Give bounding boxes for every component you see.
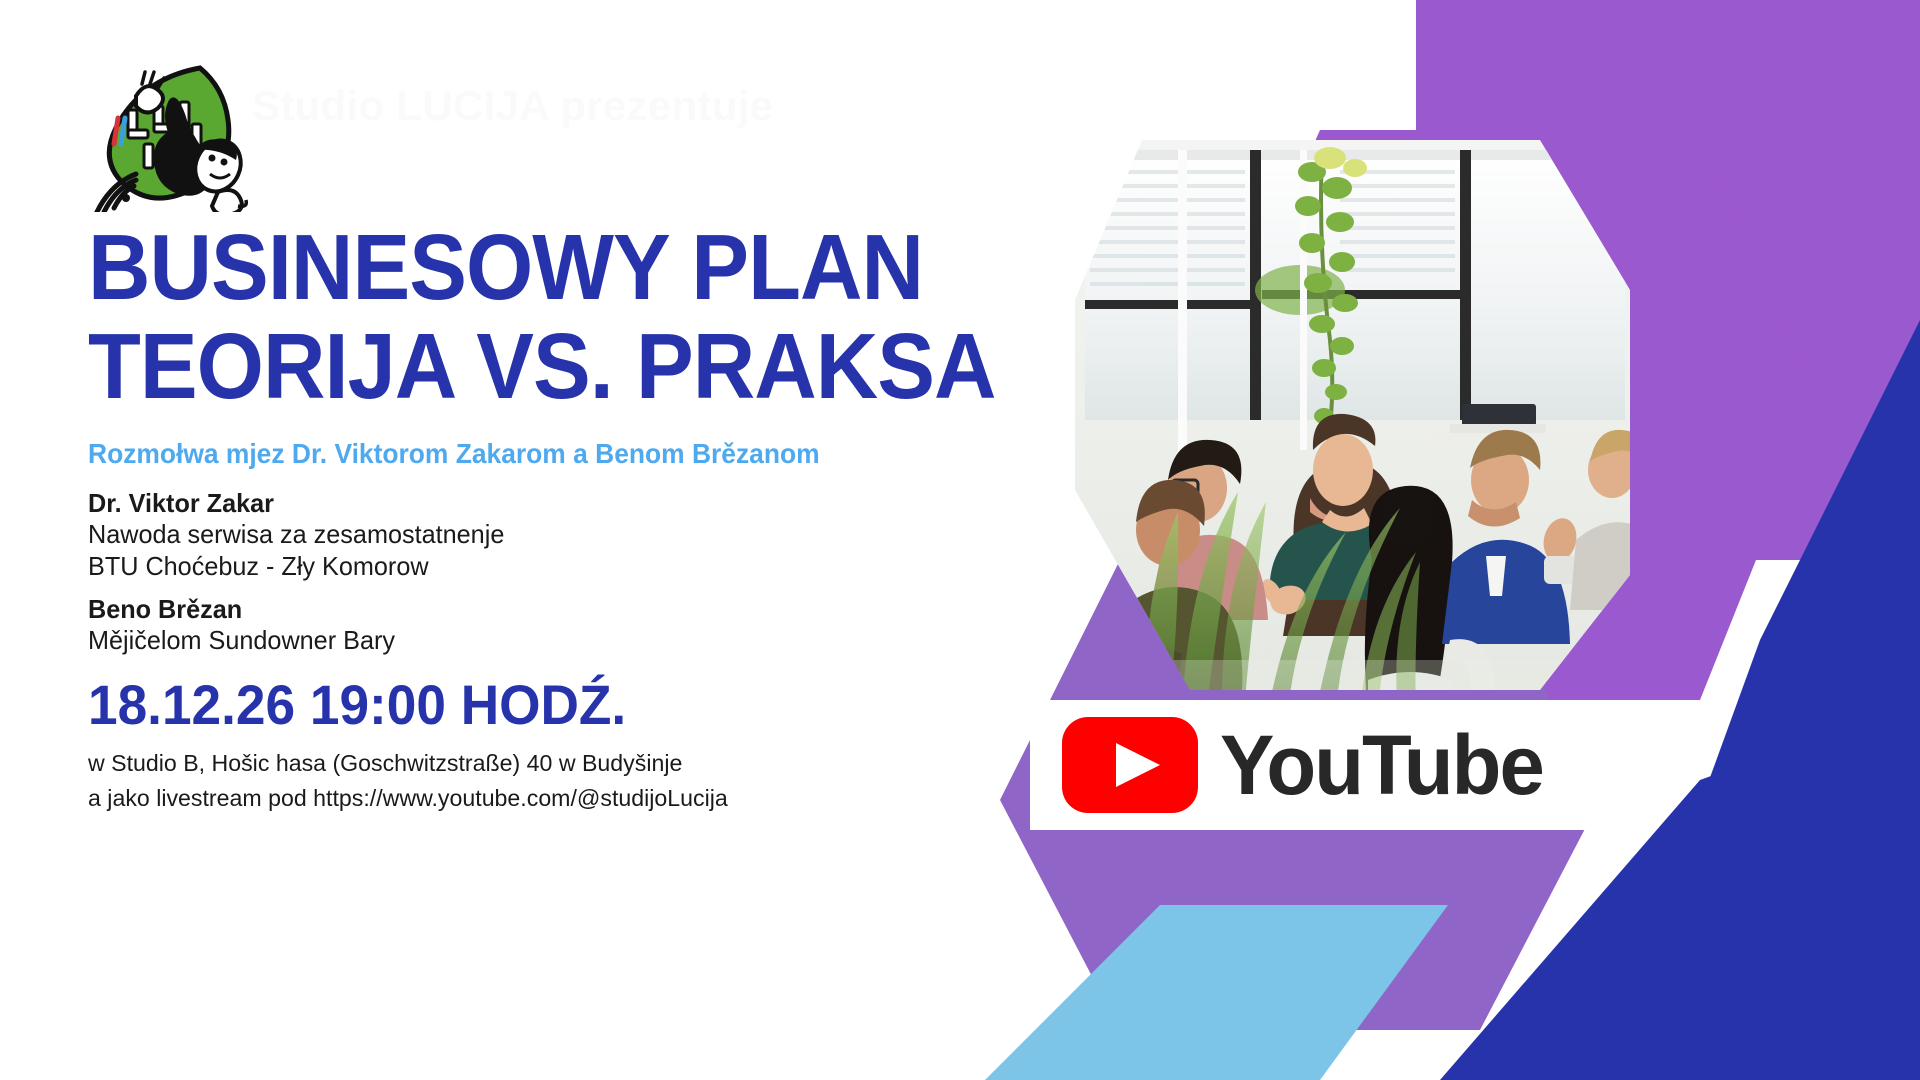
livestream-line: a jako livestream pod https://www.youtub…	[88, 782, 975, 815]
youtube-wordmark: YouTube	[1220, 723, 1543, 807]
speaker-2-name: Beno Brězan	[88, 594, 961, 625]
poster-subtitle: Rozmołwa mjez Dr. Viktorom Zakarom a Ben…	[88, 438, 952, 470]
speaker-2-affiliation-1: Mějičelom Sundowner Bary	[88, 625, 961, 657]
speaker-1-name: Dr. Viktor Zakar	[88, 488, 961, 519]
poster-text-column: BUSINESOWY PLAN TEORIJA VS. PRAKSA Rozmo…	[88, 222, 988, 815]
studio-lucija-mascot-logo	[92, 62, 260, 212]
headline-line-1: BUSINESOWY PLAN	[88, 222, 925, 313]
sky-blue-shape	[985, 905, 1448, 1080]
event-datetime: 18.12.26 19:00 HODŹ.	[88, 677, 943, 733]
speaker-block-1: Dr. Viktor Zakar Nawoda serwisa za zesam…	[88, 488, 988, 582]
speaker-1-affiliation-1: Nawoda serwisa za zesamostatnenje	[88, 519, 961, 551]
presents-watermark-text: Studio LUCIJA prezentuje	[252, 82, 773, 130]
speaker-1-affiliation-2: BTU Choćebuz - Zły Komorow	[88, 551, 961, 583]
youtube-badge[interactable]: YouTube	[1030, 700, 1620, 830]
venue-line-1: w Studio B, Hošic hasa (Goschwitzstraße)…	[88, 747, 975, 780]
youtube-play-icon	[1062, 717, 1198, 813]
speaker-block-2: Beno Brězan Mějičelom Sundowner Bary	[88, 594, 988, 656]
headline-line-2: TEORIJA VS. PRAKSA	[88, 321, 925, 412]
